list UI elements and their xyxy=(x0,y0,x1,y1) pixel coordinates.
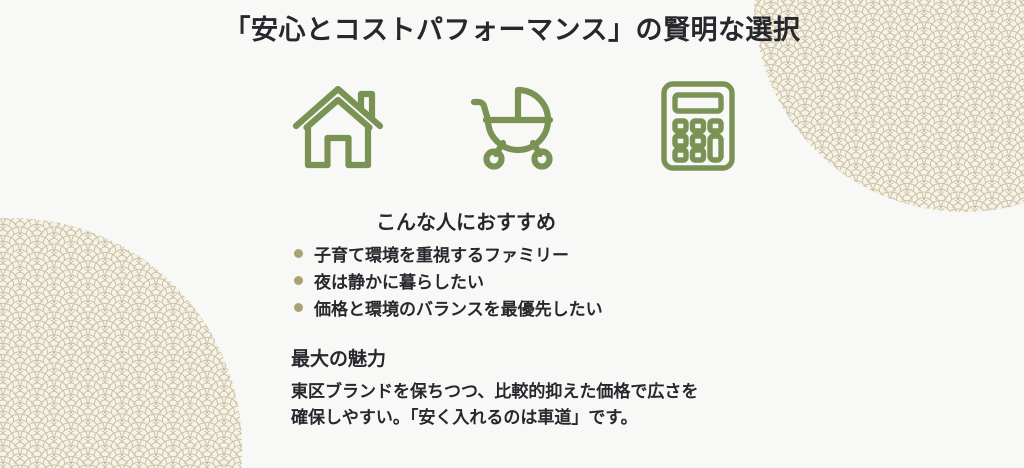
house-icon xyxy=(292,82,384,170)
list-item-label: 夜は静かに暮らしたい xyxy=(314,268,484,293)
bullet-dot-icon xyxy=(294,303,303,312)
list-item-label: 価格と環境のバランスを最優先したい xyxy=(314,295,603,320)
appeal-heading: 最大の魅力 xyxy=(291,344,386,371)
calculator-icon-cell xyxy=(648,78,748,174)
list-item: 子育て環境を重視するファミリー xyxy=(294,240,603,267)
recommend-heading: こんな人におすすめ xyxy=(296,206,636,235)
list-item-label: 子育て環境を重視するファミリー xyxy=(314,241,569,266)
bullet-dot-icon xyxy=(294,249,303,258)
list-item: 夜は静かに暮らしたい xyxy=(294,267,603,294)
page-title: 「安心とコストパフォーマンス」の賢明な選択 xyxy=(0,8,1024,47)
stroller-icon-cell xyxy=(468,78,568,174)
appeal-body: 東区ブランドを保ちつつ、比較的抑えた価格で広さを 確保しやすい。「安く入れるのは… xyxy=(291,379,751,431)
house-icon-cell xyxy=(288,78,388,174)
recommend-list: 子育て環境を重視するファミリー 夜は静かに暮らしたい 価格と環境のバランスを最優… xyxy=(294,240,603,321)
icon-row xyxy=(288,78,748,174)
list-item: 価格と環境のバランスを最優先したい xyxy=(294,294,603,321)
appeal-body-line: 東区ブランドを保ちつつ、比較的抑えた価格で広さを xyxy=(291,379,751,405)
calculator-icon xyxy=(660,80,736,172)
slide-canvas: 「安心とコストパフォーマンス」の賢明な選択 xyxy=(0,0,1024,468)
bullet-dot-icon xyxy=(294,276,303,285)
wave-circle-left-icon xyxy=(0,218,242,468)
stroller-icon xyxy=(470,82,566,170)
appeal-body-line: 確保しやすい。「安く入れるのは車道」です。 xyxy=(291,405,751,431)
